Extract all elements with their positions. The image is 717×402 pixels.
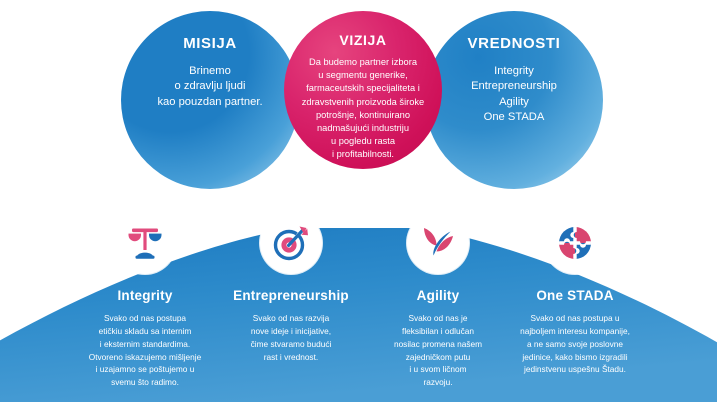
value-card-agility: Agility Svako od nas je fleksibilan i od… — [363, 212, 513, 389]
text-line: i u svom ličnom — [394, 363, 482, 376]
value-card-entrepreneurship: Entrepreneurship Svako od nas razvija no… — [216, 212, 366, 363]
value-body-one-stada: Svako od nas postupa u najboljem interes… — [516, 312, 634, 376]
text-line: rast i vrednost. — [251, 351, 332, 364]
text-line: zajedničkom putu — [394, 351, 482, 364]
text-line: Da budemo partner izbora — [302, 56, 424, 69]
text-line: nosilac promena našem — [394, 338, 482, 351]
icon-bubble-integrity — [114, 212, 176, 274]
value-body-entrepreneurship: Svako od nas razvija nove ideje i inicij… — [247, 312, 336, 363]
text-line: Integrity — [471, 64, 557, 79]
value-title-entrepreneurship: Entrepreneurship — [233, 288, 349, 303]
value-card-one-stada: One STADA Svako od nas postupa u najbolj… — [500, 212, 650, 376]
text-line: Brinemo — [157, 64, 262, 79]
text-line: o zdravlju ljudi — [157, 79, 262, 94]
text-line: potrošnje, kontinuirano — [302, 109, 424, 122]
text-line: i uzajamno se poštujemo u — [89, 363, 202, 376]
icon-bubble-one-stada — [544, 212, 606, 274]
value-title-agility: Agility — [417, 288, 460, 303]
text-line: i eksternim standardima. — [89, 338, 202, 351]
text-line: jedinice, kako bismo izgradili — [520, 351, 630, 364]
value-body-integrity: Svako od nas postupa etičkiu skladu sa i… — [85, 312, 206, 389]
text-line: Entrepreneurship — [471, 79, 557, 94]
text-line: Agility — [471, 95, 557, 110]
text-line: u pogledu rasta — [302, 135, 424, 148]
circle-misija: MISIJA Brinemo o zdravlju ljudi kao pouz… — [121, 11, 299, 189]
icon-bubble-entrepreneurship — [260, 212, 322, 274]
text-line: farmaceutskih specijaliteta i — [302, 82, 424, 95]
text-line: razvoju. — [394, 376, 482, 389]
circle-vizija: VIZIJA Da budemo partner izbora u segmen… — [284, 11, 442, 169]
circle-vrednosti-body: Integrity Entrepreneurship Agility One S… — [463, 64, 565, 126]
text-line: nadmašujući industriju — [302, 122, 424, 135]
scales-icon — [126, 226, 164, 260]
text-line: zdravstvenih proizvoda široke — [302, 96, 424, 109]
text-line: a ne samo svoje poslovne — [520, 338, 630, 351]
circle-vizija-body: Da budemo partner izbora u segmentu gene… — [290, 56, 436, 162]
text-line: Svako od nas postupa — [89, 312, 202, 325]
text-line: etičkiu skladu sa internim — [89, 325, 202, 338]
bird-wings-icon — [420, 226, 456, 260]
text-line: najboljem interesu kompanije, — [520, 325, 630, 338]
infographic-canvas: MISIJA Brinemo o zdravlju ljudi kao pouz… — [0, 0, 717, 402]
text-line: svemu što radimo. — [89, 376, 202, 389]
puzzle-circle-icon — [557, 225, 593, 261]
value-card-integrity: Integrity Svako od nas postupa etičkiu s… — [70, 212, 220, 389]
value-title-integrity: Integrity — [117, 288, 172, 303]
text-line: nove ideje i inicijative, — [251, 325, 332, 338]
target-arrow-icon — [272, 225, 310, 261]
text-line: kao pouzdan partner. — [157, 95, 262, 110]
text-line: jedinstvenu uspešnu Štadu. — [520, 363, 630, 376]
text-line: Otvoreno iskazujemo mišljenje — [89, 351, 202, 364]
circle-vizija-title: VIZIJA — [339, 32, 386, 48]
value-body-agility: Svako od nas je fleksibilan i odlučan no… — [390, 312, 486, 389]
text-line: čime stvaramo budući — [251, 338, 332, 351]
icon-bubble-agility — [407, 212, 469, 274]
value-title-one-stada: One STADA — [536, 288, 613, 303]
text-line: Svako od nas razvija — [251, 312, 332, 325]
text-line: Svako od nas postupa u — [520, 312, 630, 325]
circle-misija-title: MISIJA — [183, 35, 237, 52]
text-line: i profitabilnosti. — [302, 148, 424, 161]
circle-misija-body: Brinemo o zdravlju ljudi kao pouzdan par… — [149, 64, 270, 110]
circle-vrednosti: VREDNOSTI Integrity Entrepreneurship Agi… — [425, 11, 603, 189]
text-line: One STADA — [471, 110, 557, 125]
text-line: Svako od nas je — [394, 312, 482, 325]
text-line: u segmentu generike, — [302, 69, 424, 82]
text-line: fleksibilan i odlučan — [394, 325, 482, 338]
circle-vrednosti-title: VREDNOSTI — [468, 35, 561, 52]
